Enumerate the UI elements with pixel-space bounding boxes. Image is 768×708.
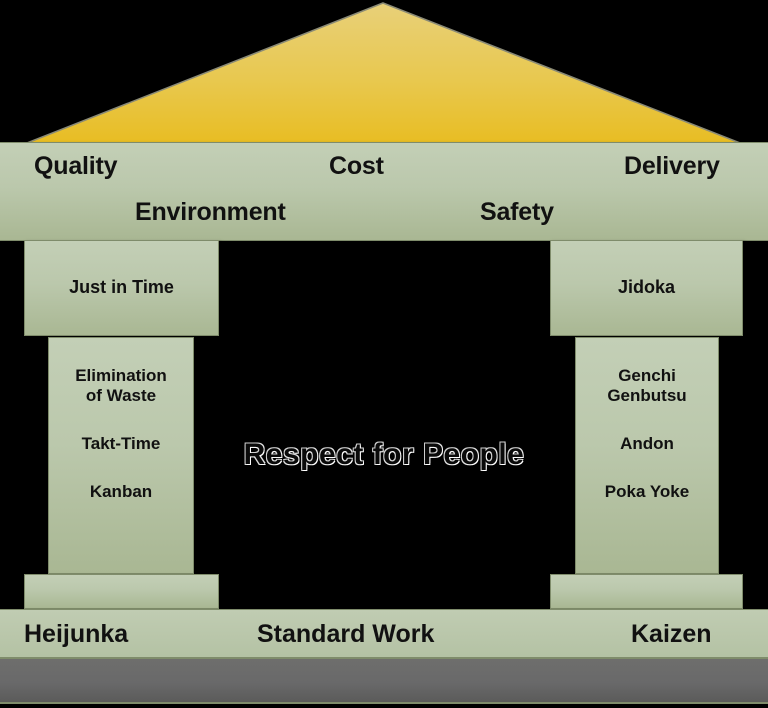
pillar-item-genchi-genbutsu: GenchiGenbutsu: [576, 366, 718, 406]
foundation-label-standard-work: Standard Work: [257, 620, 434, 649]
header-label-environment: Environment: [135, 198, 286, 227]
pillar-capital-just-in-time: Just in Time: [24, 240, 219, 336]
pillar-item-elimination-of-waste: Eliminationof Waste: [49, 366, 193, 406]
header-label-delivery: Delivery: [624, 152, 720, 181]
pillar-capital-jidoka: Jidoka: [550, 240, 743, 336]
roof-triangle: [0, 0, 768, 144]
lean-house-diagram: Quality Cost Delivery Environment Safety…: [0, 0, 768, 708]
pillar-base-right: [550, 574, 743, 609]
pillar-item-kanban: Kanban: [49, 482, 193, 502]
pillar-items-left: Eliminationof Waste Takt-Time Kanban: [49, 366, 193, 502]
pillar-item-poka-yoke: Poka Yoke: [576, 482, 718, 502]
pillar-capital-label-right: Jidoka: [551, 277, 742, 298]
foundation-label-heijunka: Heijunka: [24, 620, 128, 649]
roof: [0, 0, 768, 144]
pillar-capital-label-left: Just in Time: [25, 277, 218, 298]
foundation-band: Heijunka Standard Work Kaizen: [0, 609, 768, 658]
header-label-safety: Safety: [480, 198, 554, 227]
pillar-items-right: GenchiGenbutsu Andon Poka Yoke: [576, 366, 718, 502]
center-label-respect-for-people: Respect for People: [0, 438, 768, 472]
header-band: Quality Cost Delivery Environment Safety: [0, 142, 768, 241]
pillar-base-left: [24, 574, 219, 609]
foundation-label-kaizen: Kaizen: [631, 620, 712, 649]
header-label-cost: Cost: [329, 152, 384, 181]
gray-footing: [0, 658, 768, 704]
header-label-quality: Quality: [34, 152, 117, 181]
